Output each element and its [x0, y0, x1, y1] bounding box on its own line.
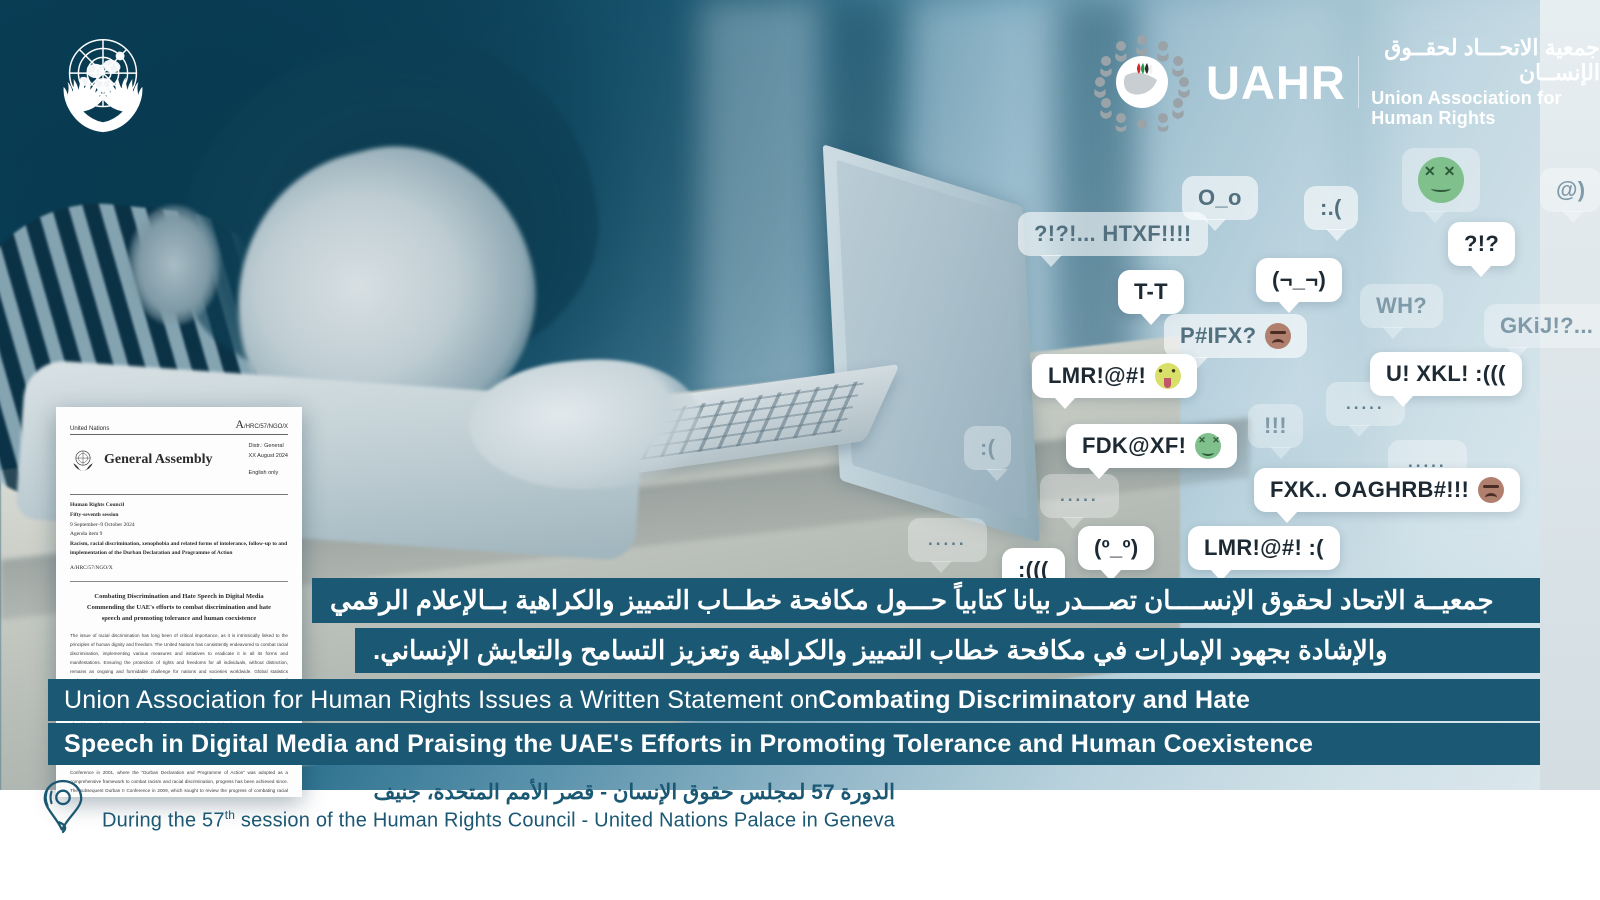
angry-emoji-icon — [1478, 477, 1504, 503]
brand-name-english: Union Association for Human Rights — [1371, 88, 1600, 129]
footer-english: During the 57th session of the Human Rig… — [102, 808, 895, 833]
document-header: United Nations A/HRC/57/NGO/X — [70, 417, 288, 435]
chat-bubble: (¬_¬) — [1256, 258, 1342, 302]
location-pin-icon — [40, 778, 86, 834]
chat-bubble-text: GKiJ!?... — [1500, 313, 1593, 339]
document-session-block: Human Rights Council Fifty-seventh sessi… — [70, 501, 288, 573]
chat-bubble-text: T-T — [1134, 279, 1168, 305]
chat-bubble-text: @) — [1556, 177, 1585, 203]
chat-bubble: ..... — [908, 518, 987, 562]
poster-canvas: ?!?!... HTXF!!!!O_o:.(@)?!?T-T(¬_¬)WH?P#… — [0, 0, 1600, 900]
chat-bubble-text: LMR!@#! :( — [1204, 535, 1324, 561]
document-session-dates: 9 September–9 October 2024 — [70, 521, 288, 531]
document-title: Combating Discrimination and Hate Speech… — [78, 591, 280, 624]
document-rule-2 — [70, 581, 288, 582]
chat-bubble: :( — [964, 426, 1011, 470]
chat-bubble-text: ?!?!... HTXF!!!! — [1034, 221, 1192, 247]
chat-bubble — [1402, 148, 1480, 212]
uahr-brand-lockup: UAHR جمعية الاتحـــاد لحقــوق الإنســان … — [1092, 30, 1600, 134]
headline-english-bold: Speech in Digital Media and Praising the… — [64, 730, 1313, 759]
boy-ear — [128, 205, 220, 325]
document-agenda-item: Agenda item 9 — [70, 530, 288, 540]
chat-bubble-text: :( — [980, 435, 995, 461]
document-symbol: A/HRC/57/NGO/X — [235, 417, 288, 432]
chat-bubble: :.( — [1304, 186, 1358, 230]
footer-english-pre: During the 57 — [102, 809, 225, 831]
sick-emoji-icon — [1195, 433, 1221, 459]
chat-bubble-text: ..... — [1346, 394, 1385, 414]
chat-bubble-text: :.( — [1320, 195, 1342, 221]
sick-emoji-icon — [1418, 157, 1464, 203]
chat-bubble: ..... — [1040, 474, 1119, 518]
document-session: Fifty-seventh session — [70, 511, 288, 521]
document-symbol-repeat: A/HRC/57/NGO/X — [70, 564, 288, 574]
chat-bubble: ..... — [1326, 382, 1405, 426]
uahr-logo-mark-icon — [1092, 32, 1192, 132]
document-organization: United Nations — [70, 426, 109, 432]
chat-bubble-text: WH? — [1376, 293, 1427, 319]
brand-divider — [1358, 56, 1359, 108]
chat-bubble: T-T — [1118, 270, 1184, 314]
chat-bubble-text: U! XKL! :((( — [1386, 361, 1506, 387]
chat-bubble: LMR!@#! — [1032, 354, 1197, 398]
united-nations-emblem-icon — [44, 22, 162, 140]
headline-english-line-2: Speech in Digital Media and Praising the… — [48, 723, 1540, 765]
chat-bubble: !!! — [1248, 404, 1303, 448]
footer-arabic: الدورة 57 لمجلس حقوق الإنسان - قصر الأمم… — [102, 780, 895, 805]
document-rule — [70, 494, 288, 495]
chat-bubble: ?!?!... HTXF!!!! — [1018, 212, 1208, 256]
footer-english-post: session of the Human Rights Council - Un… — [235, 809, 895, 831]
headline-arabic-line-2: والإشادة بجهود الإمارات في مكافحة خطاب ا… — [355, 628, 1540, 673]
footer-session-info: الدورة 57 لمجلس حقوق الإنسان - قصر الأمم… — [40, 778, 895, 834]
chat-bubble-text: (¬_¬) — [1272, 267, 1326, 293]
headline-arabic-line-1: جمعيــة الاتحاد لحقوق الإنســــان تصـــد… — [312, 578, 1540, 623]
document-organ: General Assembly — [104, 452, 213, 468]
chat-bubble-text: ?!? — [1464, 231, 1499, 257]
document-symbol-rest: /HRC/57/NGO/X — [244, 424, 288, 430]
document-date: XX August 2024 — [249, 451, 288, 461]
document-metadata: Distr.: General XX August 2024 English o… — [249, 441, 288, 478]
chat-bubble: FDK@XF! — [1066, 424, 1237, 468]
footer-text-block: الدورة 57 لمجلس حقوق الإنسان - قصر الأمم… — [102, 780, 895, 833]
chat-bubble: O_o — [1182, 176, 1258, 220]
chat-bubble: LMR!@#! :( — [1188, 526, 1340, 570]
chat-bubble-text: !!! — [1264, 413, 1287, 439]
chat-bubble-text: (º_º) — [1094, 535, 1138, 561]
footer-ordinal-suffix: th — [225, 808, 235, 822]
document-council: Human Rights Council — [70, 501, 288, 511]
united-nations-emblem-small-icon — [70, 447, 96, 473]
chat-bubble: GKiJ!?... — [1484, 304, 1600, 348]
chat-bubble: FXK.. OAGHRB#!!! — [1254, 468, 1520, 512]
headline-english-bold: Combating Discriminatory and Hate — [818, 686, 1250, 715]
angry-emoji-icon — [1265, 323, 1291, 349]
chat-bubble: WH? — [1360, 284, 1443, 328]
chat-bubble: ?!? — [1448, 222, 1515, 266]
chat-bubble-text: ..... — [1060, 486, 1099, 506]
document-organ-row: General Assembly Distr.: General XX Augu… — [70, 441, 288, 478]
document-distribution: Distr.: General — [249, 441, 288, 451]
brand-name-arabic: جمعية الاتحـــاد لحقــوق الإنســان — [1371, 35, 1600, 86]
chat-bubble-text: FXK.. OAGHRB#!!! — [1270, 477, 1469, 503]
chat-bubble-text: LMR!@#! — [1048, 363, 1146, 389]
chat-bubble-text: P#IFX? — [1180, 323, 1256, 349]
chat-bubble: P#IFX? — [1164, 314, 1307, 358]
tongue-emoji-icon — [1155, 363, 1181, 389]
headline-english-line-1: Union Association for Human Rights Issue… — [48, 679, 1540, 721]
chat-bubble-text: ..... — [928, 530, 967, 550]
headline-english-normal: Union Association for Human Rights Issue… — [64, 686, 818, 715]
document-agenda-topic: Racism, racial discrimination, xenophobi… — [70, 540, 288, 559]
chat-bubble: @) — [1540, 168, 1600, 212]
document-symbol-prefix: A — [235, 417, 244, 431]
chat-bubble-text: FDK@XF! — [1082, 433, 1186, 459]
chat-bubble: (º_º) — [1078, 526, 1154, 570]
chat-bubble-text: O_o — [1198, 185, 1242, 211]
document-language: English only — [249, 468, 288, 478]
brand-abbreviation: UAHR — [1206, 59, 1346, 106]
